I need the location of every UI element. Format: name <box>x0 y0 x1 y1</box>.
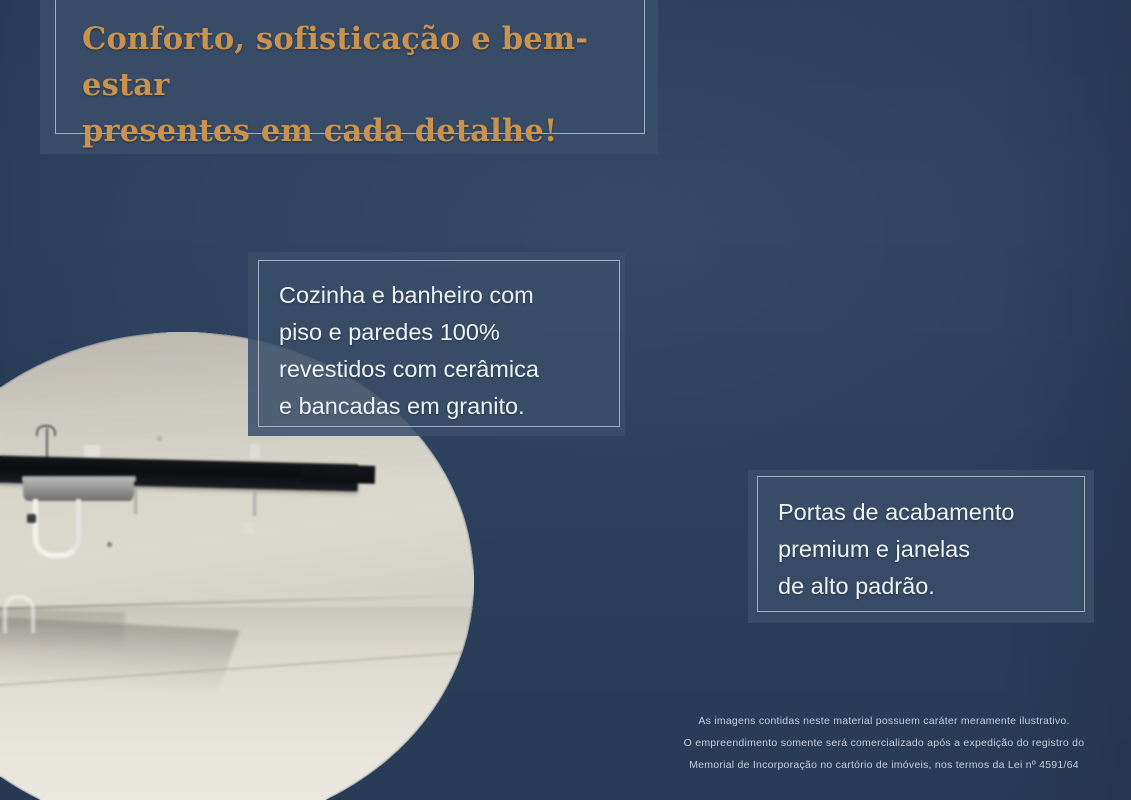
photo-wall-outlet <box>250 444 260 458</box>
photo-granite-countertop-step <box>302 464 375 484</box>
photo-drain-valve <box>27 514 36 523</box>
photo-wall-outlet <box>84 445 100 458</box>
feature-panel-doors: Portas de acabamento premium e janelas d… <box>748 470 1094 623</box>
photo-stainless-sink <box>23 478 134 501</box>
page-title: Conforto, sofisticação e bem-estar prese… <box>82 16 632 154</box>
legal-disclaimer: As imagens contidas neste material possu… <box>660 710 1108 776</box>
photo-wall-mark <box>244 522 254 534</box>
photo-drain-hose <box>33 499 81 558</box>
disclaimer-line-1: As imagens contidas neste material possu… <box>660 710 1108 732</box>
feature-panel-finish: Cozinha e banheiro com piso e paredes 10… <box>248 252 625 436</box>
headline-panel: Conforto, sofisticação e bem-estar prese… <box>40 0 658 154</box>
marketing-slide: Conforto, sofisticação e bem-estar prese… <box>0 0 1131 800</box>
photo-counter-bracket <box>134 488 137 514</box>
photo-counter-bracket <box>253 490 256 516</box>
feature-panel-finish-text: Cozinha e banheiro com piso e paredes 10… <box>279 277 611 425</box>
disclaimer-line-3: Memorial de Incorporação no cartório de … <box>660 754 1108 776</box>
feature-panel-doors-text: Portas de acabamento premium e janelas d… <box>778 494 1080 605</box>
photo-floor-reflection-hose <box>3 595 35 633</box>
disclaimer-line-2: O empreendimento somente será comerciali… <box>660 732 1108 754</box>
photo-wall-mark <box>157 436 162 441</box>
